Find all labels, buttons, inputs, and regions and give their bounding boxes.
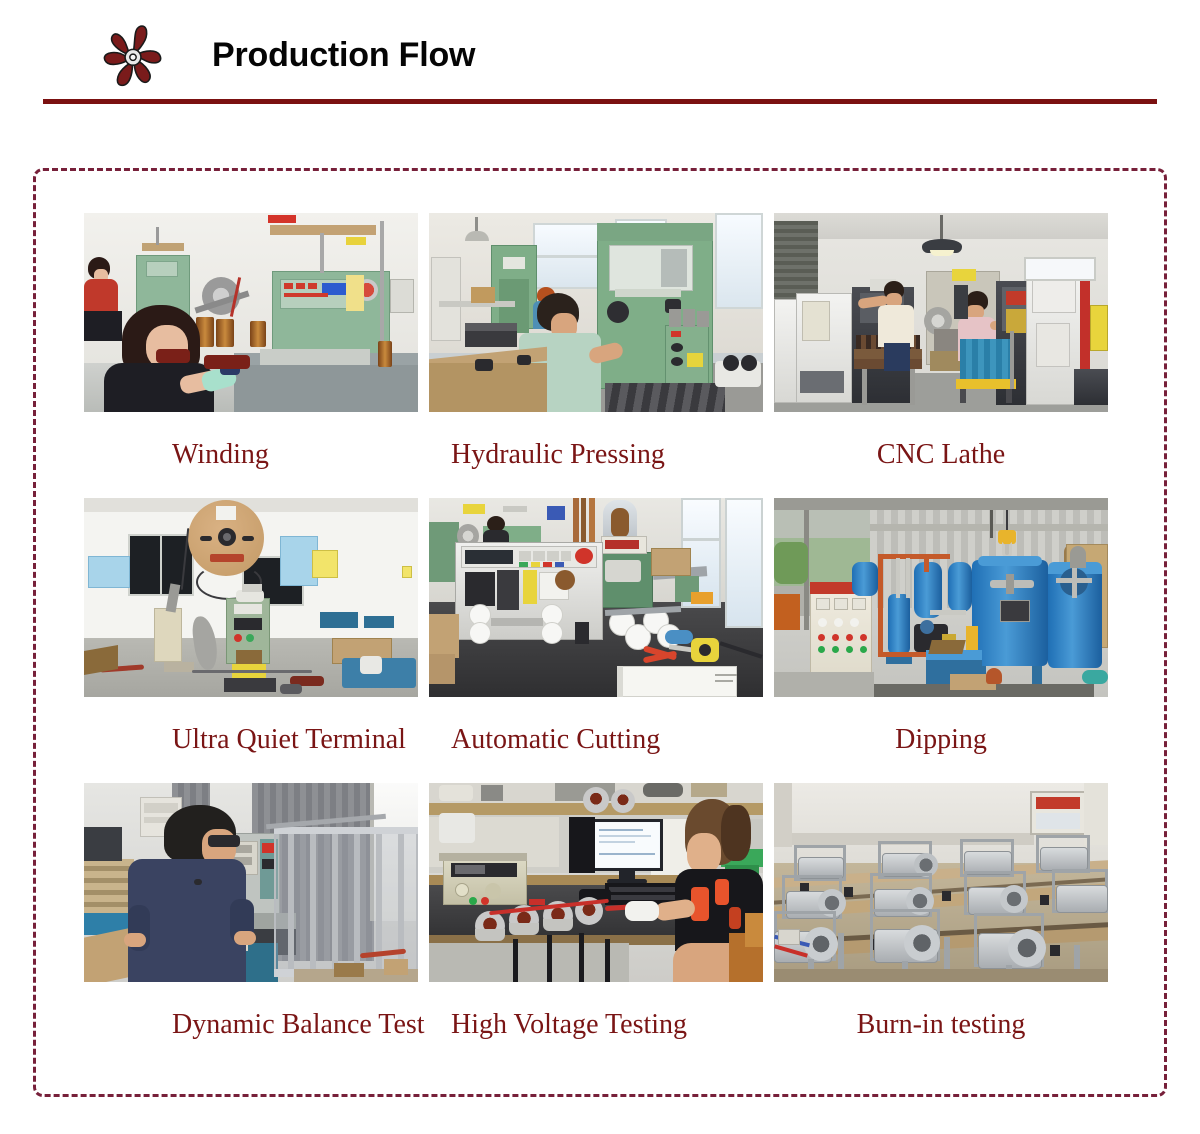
photo-dynamic-balance-test: [84, 783, 418, 982]
flow-step-dipping[interactable]: Dipping: [774, 498, 1108, 783]
flow-step-burn-in-testing[interactable]: Burn-in testing: [774, 783, 1108, 1068]
page-title: Production Flow: [212, 32, 475, 78]
header-divider: [43, 99, 1157, 104]
photo-winding: [84, 213, 418, 412]
photo-cnc-lathe: [774, 213, 1108, 412]
flow-step-hydraulic-pressing[interactable]: Hydraulic Pressing: [429, 213, 763, 498]
step-label: CNC Lathe: [774, 412, 1108, 498]
photo-automatic-cutting: [429, 498, 763, 697]
flow-step-automatic-cutting[interactable]: Automatic Cutting: [429, 498, 763, 783]
step-label: Ultra Quiet Terminal: [84, 697, 418, 783]
production-flow-grid: Winding: [84, 213, 1122, 1068]
photo-ultra-quiet-terminal: [84, 498, 418, 697]
step-label: Automatic Cutting: [429, 697, 763, 783]
photo-burn-in-testing: [774, 783, 1108, 982]
flow-step-cnc-lathe[interactable]: CNC Lathe: [774, 213, 1108, 498]
photo-dipping: [774, 498, 1108, 697]
flow-step-high-voltage-testing[interactable]: High Voltage Testing: [429, 783, 763, 1068]
step-label: High Voltage Testing: [429, 982, 763, 1068]
photo-high-voltage-testing: [429, 783, 763, 982]
photo-hydraulic-pressing: [429, 213, 763, 412]
page-header: Production Flow: [0, 0, 1200, 110]
step-label: Dynamic Balance Test: [84, 982, 418, 1068]
flow-step-winding[interactable]: Winding: [84, 213, 418, 498]
step-label: Burn-in testing: [774, 982, 1108, 1068]
production-flow-page: Production Flow: [0, 0, 1200, 1134]
step-label: Dipping: [774, 697, 1108, 783]
fan-impeller-icon: [96, 22, 170, 94]
flow-step-ultra-quiet-terminal[interactable]: Ultra Quiet Terminal: [84, 498, 418, 783]
flow-step-dynamic-balance-test[interactable]: Dynamic Balance Test: [84, 783, 418, 1068]
step-label: Winding: [84, 412, 418, 498]
production-flow-frame: Winding: [33, 168, 1167, 1097]
step-label: Hydraulic Pressing: [429, 412, 763, 498]
